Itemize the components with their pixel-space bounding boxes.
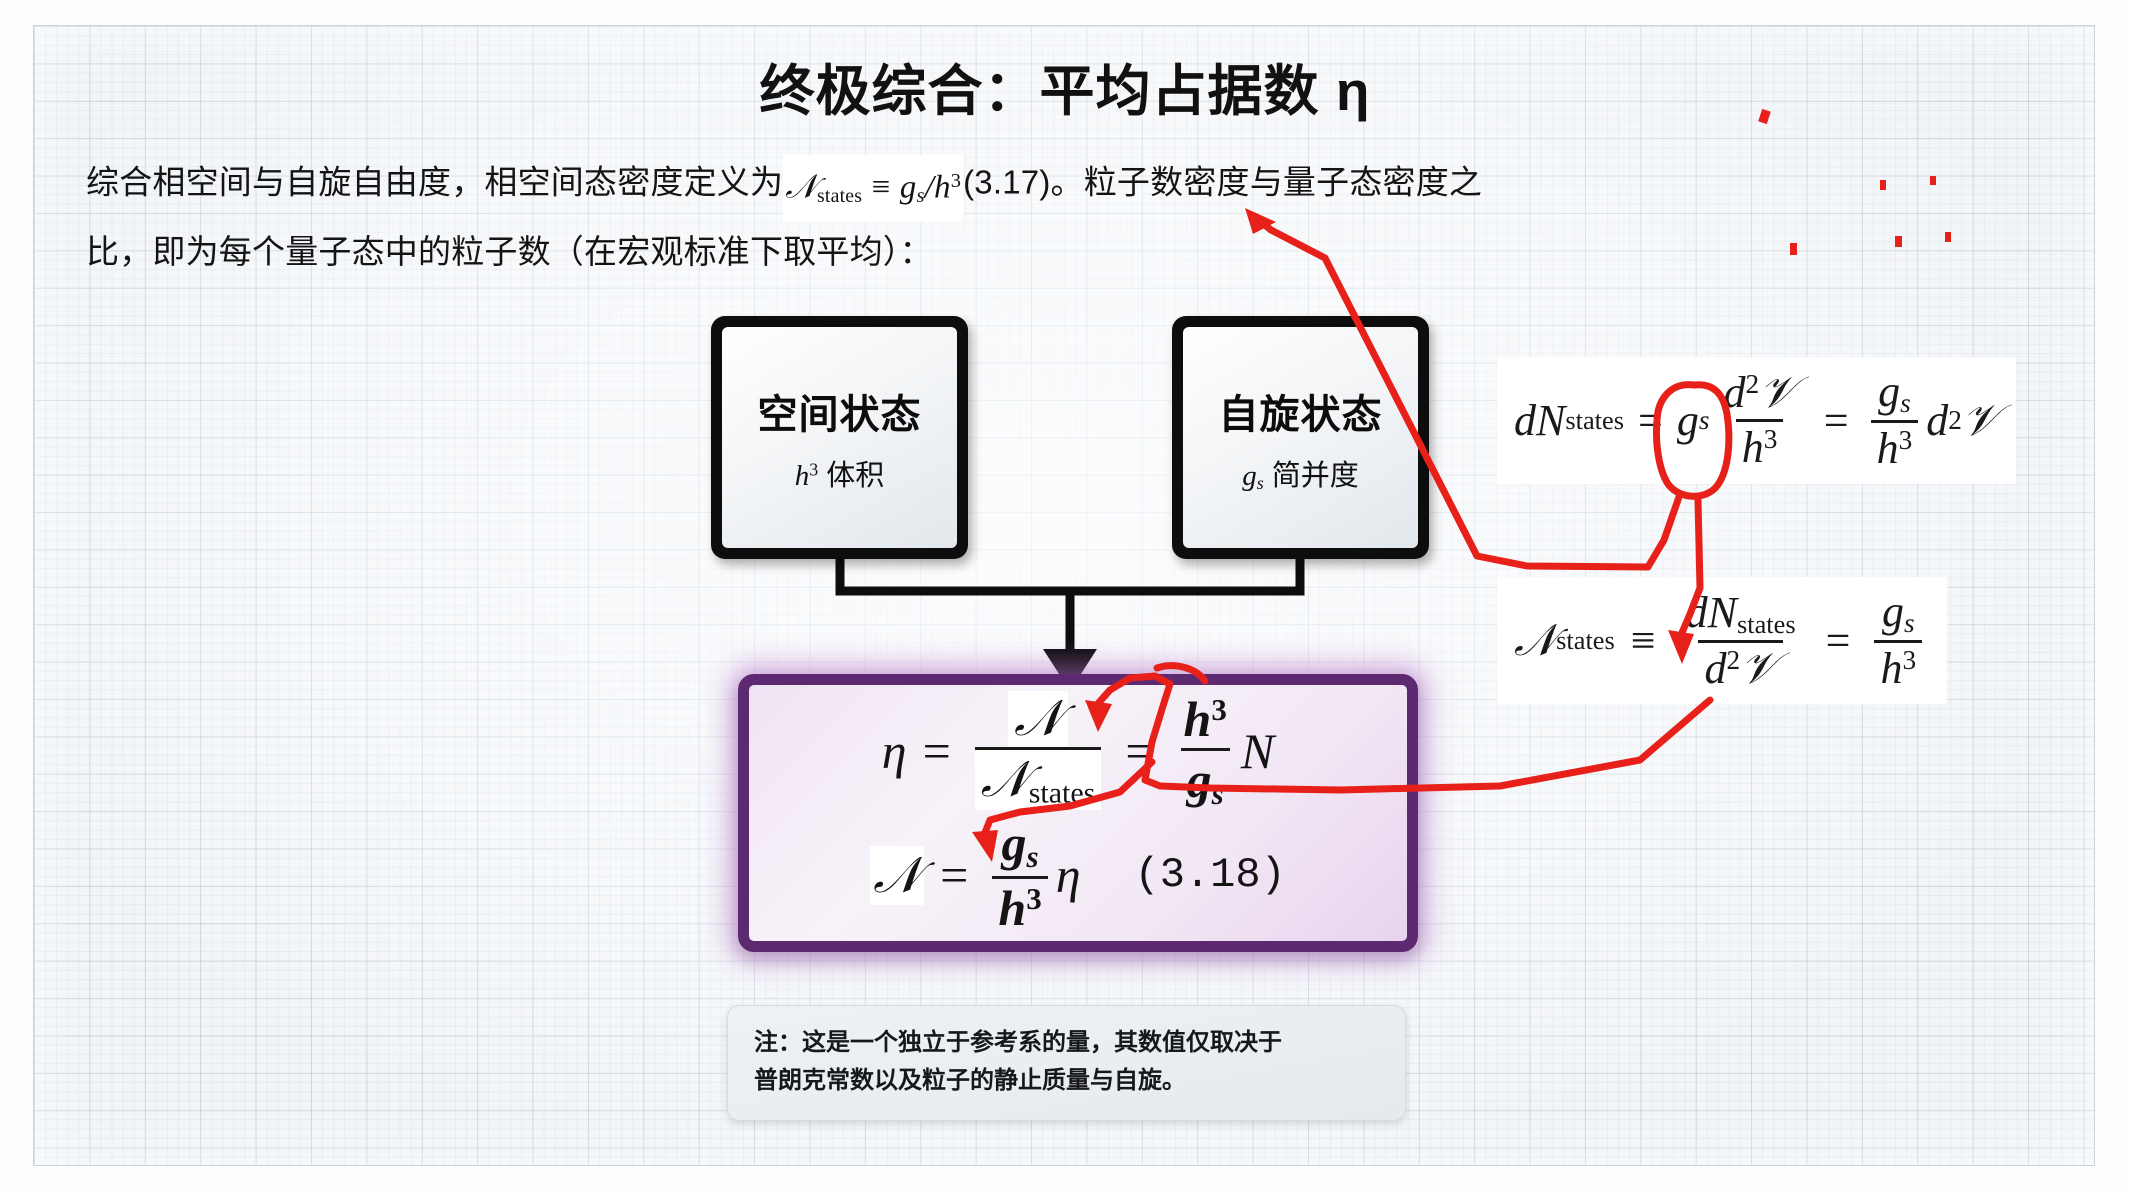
- fraction-denominator-4: h3: [1874, 640, 1922, 693]
- h-symbol: h: [795, 460, 810, 492]
- h-den-4: h: [1880, 644, 1902, 693]
- h-den-pow-4: 3: [1902, 645, 1916, 675]
- concept-box-spin-inner: 自旋状态 gs 简并度: [1183, 327, 1418, 548]
- fraction-d2v-over-h3: d2𝒱 h3: [1717, 369, 1801, 471]
- result-gs-den: gs: [1181, 748, 1230, 810]
- gs-circled: g: [1677, 395, 1699, 446]
- result-h3-num: h3: [1178, 692, 1233, 748]
- equals-3: =: [1826, 615, 1851, 666]
- g-result: g: [1187, 752, 1212, 808]
- g-num-2: g: [1878, 367, 1900, 416]
- fraction-numerator-2: gs: [1872, 368, 1917, 420]
- concept-box-space-subtitle: h3 体积: [795, 452, 885, 494]
- ink-dot-2: [1790, 243, 1797, 255]
- N-symbol-1: N: [1536, 395, 1565, 446]
- states-sub-result: states: [1029, 777, 1096, 810]
- d-tail-pow: 2: [1948, 405, 1962, 436]
- equals-2: =: [1824, 395, 1849, 446]
- volume-label: 体积: [826, 460, 884, 492]
- identity-sign: ≡: [1631, 615, 1656, 666]
- concept-box-space-inner: 空间状态 h3 体积: [722, 327, 957, 548]
- h-result: h: [1184, 691, 1212, 747]
- fraction-denominator-2: h3: [1871, 420, 1919, 473]
- ink-dot-6: [1930, 176, 1936, 185]
- gs-subscript: s: [916, 185, 924, 207]
- fraction-numerator-1: d2𝒱: [1717, 369, 1801, 419]
- body-line1-lead: 综合相空间与自旋自由度，相空间态密度定义为: [86, 164, 783, 201]
- h-result-pow: 3: [1211, 692, 1227, 727]
- cal-N-glyph: 𝒩: [785, 167, 817, 206]
- concept-box-space-title: 空间状态: [758, 382, 922, 440]
- ink-dot-5: [1880, 180, 1886, 190]
- g-num-sub-2: s: [1900, 388, 1911, 418]
- big-N-result: N: [1241, 722, 1274, 780]
- gs-subscript-box: s: [1257, 472, 1264, 492]
- d-tail: d: [1926, 395, 1948, 446]
- h-exponent: 3: [809, 459, 818, 479]
- concept-box-spin-state[interactable]: 自旋状态 gs 简并度: [1172, 316, 1429, 559]
- concept-box-space-state[interactable]: 空间状态 h3 体积: [711, 316, 968, 559]
- h-den-2: h: [1877, 424, 1899, 473]
- g-result2: g: [1001, 815, 1026, 871]
- g-result-sub: s: [1212, 776, 1224, 811]
- nstates-inline-formula: 𝒩states ≡ gs/h3: [783, 155, 963, 222]
- h-power: 3: [951, 170, 961, 192]
- equation-number: (3.18): [1135, 851, 1286, 899]
- cal-N-result-den: 𝒩: [981, 750, 1029, 808]
- ink-dot-3: [1895, 236, 1902, 247]
- equals-r3: =: [940, 846, 968, 904]
- fraction-gs-over-h3-b: gs h3: [1874, 588, 1922, 693]
- g-num-4: g: [1882, 587, 1904, 636]
- concept-box-spin-subtitle: gs 简并度: [1242, 452, 1359, 494]
- page-title: 终极综合：平均占据数 η: [0, 46, 2130, 126]
- fraction-dnstates-over-d2v: dNstates d2𝒱: [1680, 589, 1802, 693]
- body-paragraph: 综合相空间与自旋自由度，相空间态密度定义为𝒩states ≡ gs/h3(3.1…: [86, 155, 2046, 278]
- result-numerator: 𝒩: [1008, 691, 1068, 747]
- d-num-pow-1: 2: [1745, 369, 1759, 399]
- states-sub-1: states: [1565, 405, 1624, 436]
- d-num-1: d: [1723, 368, 1745, 417]
- formula-dn-states: dNstates = gs d2𝒱 h3 = gs h3 d2𝒱: [1498, 358, 2015, 483]
- gs-symbol: g: [900, 170, 917, 206]
- fraction-denominator-1: h3: [1736, 419, 1784, 472]
- cal-V-1: 𝒱: [1759, 367, 1796, 418]
- cal-N-2: 𝒩: [1514, 615, 1556, 666]
- result-equation-box: η = 𝒩 𝒩states = h3 gs N 𝒩 = gs h3 η (3.1…: [738, 674, 1418, 952]
- gs-symbol-box: g: [1242, 460, 1257, 492]
- equals-r2: =: [1125, 722, 1153, 780]
- h-result2-pow: 3: [1026, 881, 1042, 916]
- equals-1: =: [1638, 395, 1663, 446]
- note-line1: 注：这是一个独立于参考系的量，其数值仅取决于: [754, 1024, 1379, 1062]
- fraction-N-over-Nstates: 𝒩 𝒩states: [975, 691, 1102, 810]
- result-denominator: 𝒩states: [975, 747, 1102, 810]
- h-over: /h: [925, 170, 951, 206]
- result-equation-line1: η = 𝒩 𝒩states = h3 gs N: [882, 691, 1274, 810]
- cal-V-tail: 𝒱: [1962, 395, 1999, 446]
- fraction-numerator-4: gs: [1876, 588, 1921, 640]
- ink-dot-4: [1945, 232, 1951, 242]
- d-symbol-1: d: [1514, 395, 1536, 446]
- cal-V-3: 𝒱: [1740, 643, 1777, 694]
- slide-canvas: 终极综合：平均占据数 η 综合相空间与自旋自由度，相空间态密度定义为𝒩state…: [0, 0, 2130, 1191]
- eta-symbol: η: [882, 722, 907, 780]
- d-den-pow-3: 2: [1726, 645, 1740, 675]
- fraction-numerator-3: dNstates: [1680, 589, 1802, 640]
- states-sub-2: states: [1556, 625, 1615, 656]
- result-equation-line2: 𝒩 = gs h3 η (3.18): [870, 816, 1285, 934]
- d-num-3: d: [1686, 588, 1708, 637]
- eta-result2: η: [1056, 846, 1081, 904]
- formula-n-states-definition: 𝒩states ≡ dNstates d2𝒱 = gs h3: [1498, 578, 1946, 703]
- states-sub-3: states: [1737, 608, 1796, 638]
- states-subscript: states: [817, 185, 862, 207]
- fraction-h3-over-gs: h3 gs: [1178, 692, 1233, 810]
- fraction-gs-over-h3-a: gs h3: [1871, 368, 1919, 473]
- cal-N-result-num: 𝒩: [1014, 689, 1062, 747]
- equiv-sign: ≡: [872, 170, 891, 206]
- result2-num: gs: [995, 816, 1044, 875]
- cal-N-line2: 𝒩: [870, 846, 924, 905]
- h-result2: h: [998, 880, 1026, 936]
- N-num-3: N: [1708, 588, 1737, 637]
- equals-r1: =: [923, 722, 951, 780]
- h-den-1: h: [1742, 423, 1764, 472]
- g-result2-sub: s: [1026, 839, 1038, 874]
- concept-box-spin-title: 自旋状态: [1219, 382, 1383, 440]
- body-line2: 比，即为每个量子态中的粒子数（在宏观标准下取平均）：: [86, 226, 2046, 278]
- result2-den: h3: [992, 876, 1047, 935]
- note-line2: 普朗克常数以及粒子的静止质量与自旋。: [754, 1062, 1379, 1100]
- d-den-3: d: [1704, 644, 1726, 693]
- h-den-pow-2: 3: [1899, 425, 1913, 455]
- gs-circled-sub: s: [1699, 405, 1710, 436]
- degeneracy-label: 简并度: [1272, 460, 1359, 492]
- h-den-pow-1: 3: [1764, 424, 1778, 454]
- g-num-sub-4: s: [1904, 608, 1915, 638]
- fraction-denominator-3: d2𝒱: [1698, 640, 1782, 693]
- note-callout: 注：这是一个独立于参考系的量，其数值仅取决于 普朗克常数以及粒子的静止质量与自旋…: [727, 1005, 1406, 1121]
- fraction-gs-over-h3-result: gs h3: [992, 816, 1047, 934]
- body-line1-tail: (3.17)。粒子数密度与量子态密度之: [963, 164, 1482, 201]
